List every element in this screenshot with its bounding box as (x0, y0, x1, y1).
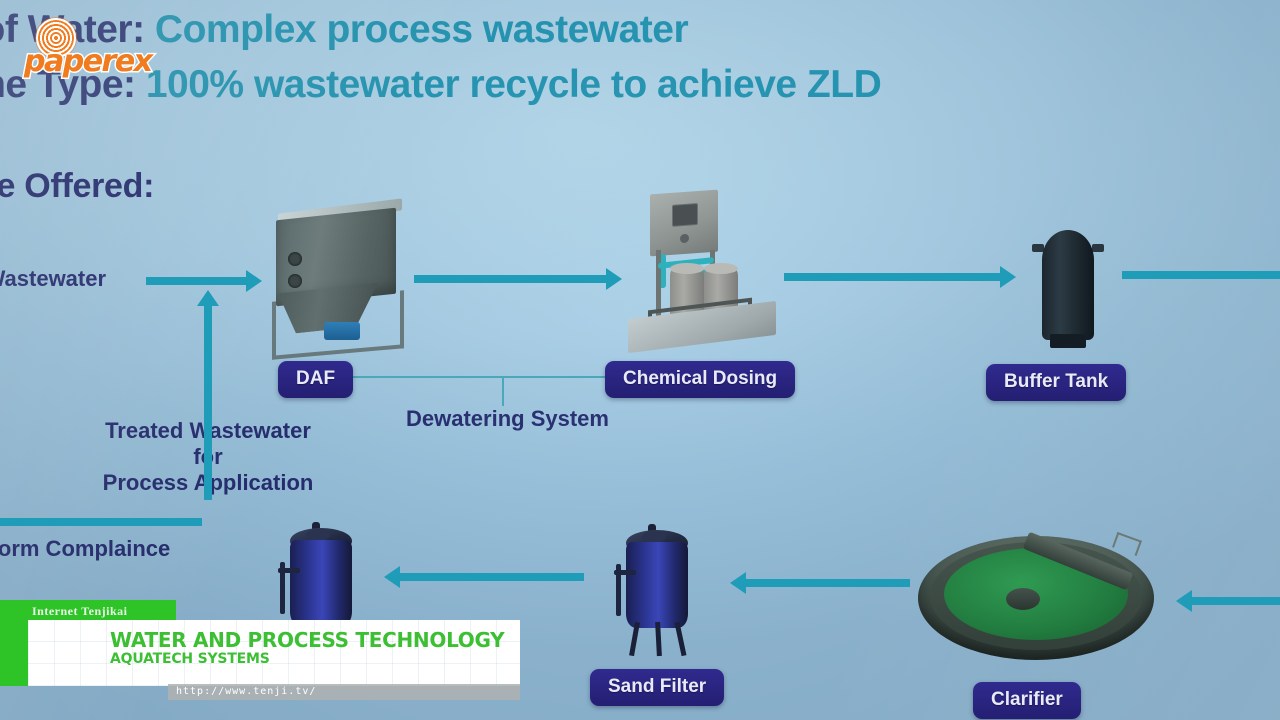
broadcast-lower-third: Internet Tenjikai WATER AND PROCESS TECH… (0, 600, 520, 696)
label-dewatering-system: Dewatering System (406, 406, 609, 432)
connector-dewatering-drop (502, 376, 504, 406)
heading-value: 100% wastewater recycle to achieve ZLD (146, 63, 881, 106)
arrow-buffer-tank-outlet (1122, 264, 1280, 286)
section-title-scheme-offered: eme Offered: (0, 167, 154, 206)
badge-clarifier: Clarifier (973, 682, 1081, 719)
badge-chemical-dosing: Chemical Dosing (605, 361, 795, 398)
daf-unit (266, 196, 416, 356)
slide-canvas: e of Water: Complex process wastewater e… (0, 0, 1280, 720)
paperex-wordmark: paperex (24, 44, 152, 79)
lower-third-eyebrow: Internet Tenjikai (32, 604, 128, 619)
connector-dewatering-horizontal (348, 376, 610, 378)
paperex-logo: paperex paperex (24, 18, 166, 84)
arrow-pcb-discharge-line (0, 516, 206, 528)
arrow-clarifier-to-sand-filter (730, 572, 910, 594)
badge-sand-filter: Sand Filter (590, 669, 724, 706)
heading-value: Complex process wastewater (155, 8, 688, 51)
arrow-recycle-riser-upper (196, 290, 220, 400)
arrow-process-wastewater-to-daf (146, 270, 264, 292)
badge-buffer-tank: Buffer Tank (986, 364, 1126, 401)
label-pcb-norm-compliance: B Norm Complaince (0, 536, 170, 562)
label-process-wastewater: ss Wastewater (0, 266, 106, 292)
arrow-sand-filter-to-carbon-filter (384, 566, 584, 588)
badge-daf: DAF (278, 361, 353, 398)
clarifier-basin (918, 528, 1154, 680)
sand-filter-vessel (612, 530, 708, 662)
lower-third-url: http://www.tenji.tv/ (176, 686, 316, 697)
chemical-dosing-skid (622, 192, 782, 352)
lower-third-title: WATER AND PROCESS TECHNOLOGY (110, 628, 504, 652)
arrow-daf-to-chemical-dosing (414, 268, 626, 290)
lower-third-url-bar: http://www.tenji.tv/ (168, 684, 520, 700)
lower-third-subtitle: AQUATECH SYSTEMS (110, 651, 270, 667)
arrow-inlet-to-clarifier (1176, 590, 1280, 612)
buffer-tank-vessel (1032, 222, 1104, 352)
arrow-chemical-dosing-to-buffer-tank (784, 266, 1020, 288)
arrow-recycle-riser-mid (196, 400, 220, 500)
